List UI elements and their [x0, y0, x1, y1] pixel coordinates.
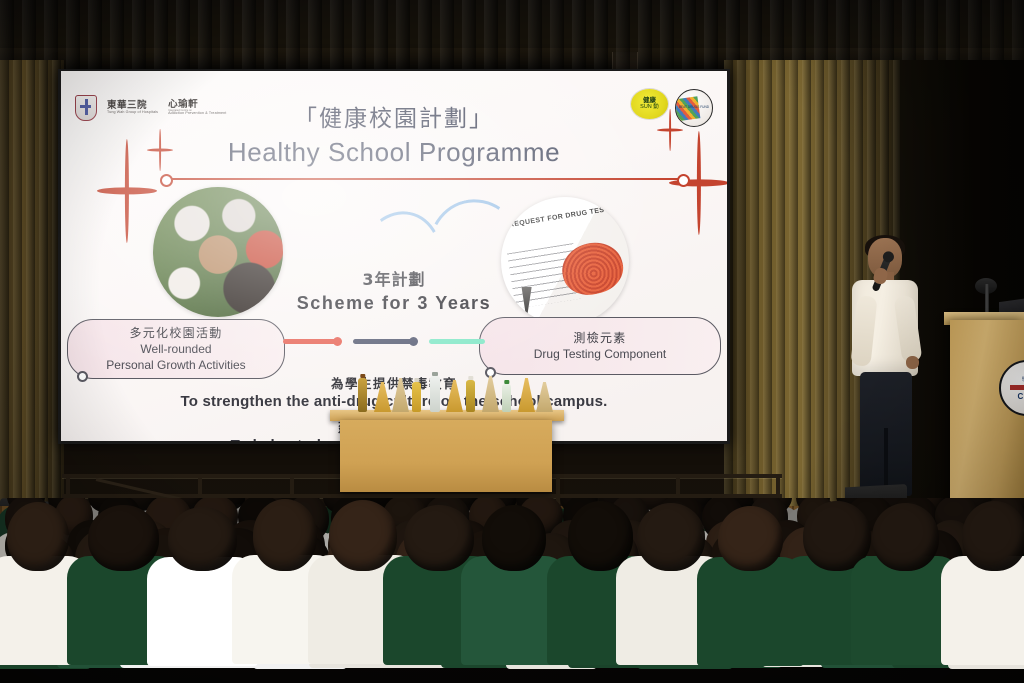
audience-member-head	[482, 505, 546, 571]
bullet-2-english-post: .	[553, 437, 557, 441]
valance-pleat	[528, 0, 542, 78]
valance-pleat	[242, 0, 256, 78]
connector-dot-2	[409, 337, 418, 346]
connector-dot-1	[333, 337, 342, 346]
school-emblem-bar	[1010, 385, 1024, 390]
valance-pleat	[308, 0, 322, 78]
valance-pleat	[176, 0, 190, 78]
scheme-duration-chinese: 3年計劃	[61, 266, 727, 290]
valance-pleat	[506, 0, 520, 78]
curtain-fold	[828, 60, 837, 530]
callout-left-en-2: Personal Growth Activities	[106, 357, 245, 373]
curtain-fold	[13, 60, 22, 530]
beat-drugs-fund-label: BEAT DRUGS FUND	[679, 106, 709, 110]
callout-right-en-1: Drug Testing Component	[534, 346, 667, 362]
valance-pleat	[704, 0, 718, 78]
bottle-3	[430, 376, 440, 412]
scheme-duration-english: Scheme for 3 Years	[61, 293, 727, 314]
bottle-2	[412, 382, 421, 412]
presenter	[848, 238, 928, 510]
exhibit-items	[330, 370, 564, 412]
valance-pleat	[198, 0, 212, 78]
valance-pleat	[110, 0, 124, 78]
easel-2	[392, 378, 409, 412]
lectern	[950, 320, 1024, 520]
well-rounded-activities-callout: 多元化校園活動 Well-rounded Personal Growth Act…	[67, 319, 285, 379]
connector-segment-2	[353, 339, 415, 344]
audience-member-head	[718, 506, 783, 571]
valance-pleat	[616, 0, 630, 78]
curtain-fold	[815, 60, 824, 530]
curtain-fold	[737, 60, 746, 530]
valance-pleat	[88, 0, 102, 78]
curtain-fold	[39, 60, 48, 530]
exhibit-table	[340, 420, 552, 492]
easel-5	[518, 378, 535, 412]
valance-pleat	[396, 0, 410, 78]
connector-segment-1	[283, 339, 339, 344]
slide-title-chinese: 「健康校園計劃」	[61, 99, 727, 133]
valance-pleat	[66, 0, 80, 78]
valance-pleat	[484, 0, 498, 78]
student-audience	[0, 498, 1024, 683]
valance-pleat	[594, 0, 608, 78]
valance-pleat	[550, 0, 564, 78]
audience-member-head	[637, 503, 705, 571]
easel-3	[446, 380, 463, 412]
bottle-5	[502, 384, 511, 412]
audience-member	[941, 501, 1024, 683]
valance-pleat	[286, 0, 300, 78]
drug-testing-component-callout: 測檢元素 Drug Testing Component	[479, 317, 721, 375]
callout-right-cn: 測檢元素	[573, 330, 626, 346]
valance-pleat	[462, 0, 476, 78]
curtain-fold	[26, 60, 35, 530]
audience-member-uniform	[941, 556, 1024, 665]
valance-pleat	[418, 0, 432, 78]
curtain-fold	[789, 60, 798, 530]
valance-pleat	[220, 0, 234, 78]
callout-left-cn: 多元化校園活動	[129, 325, 222, 341]
rule-end-dot-left	[160, 174, 173, 187]
valance-pleat	[638, 0, 652, 78]
curtain-fold	[802, 60, 811, 530]
valance-pleat	[572, 0, 586, 78]
audience-member-head	[7, 502, 69, 571]
easel-1	[374, 382, 391, 412]
callout-left-en-1: Well-rounded	[140, 341, 211, 357]
curtain-fold	[763, 60, 772, 530]
easel-6	[536, 382, 553, 412]
audience-member-head	[168, 507, 237, 571]
curtain-fold	[0, 60, 9, 530]
connector-segment-3	[429, 339, 485, 344]
slide-title-english: Healthy School Programme	[61, 137, 727, 168]
valance-pleat	[154, 0, 168, 78]
valance-pleat	[440, 0, 454, 78]
valance-pleat	[352, 0, 366, 78]
curtain-fold	[750, 60, 759, 530]
valance-pleat	[374, 0, 388, 78]
audience-member-head	[872, 503, 939, 571]
audience-member-head	[962, 501, 1024, 571]
valance-pleat	[330, 0, 344, 78]
stage-curtain-left	[0, 60, 64, 530]
bottle-1	[358, 378, 367, 412]
valance-pleat	[682, 0, 696, 78]
curtain-fold	[776, 60, 785, 530]
title-underline-rule	[165, 178, 681, 180]
valance-pleat	[264, 0, 278, 78]
rule-end-dot-right	[677, 174, 690, 187]
valance-pleat	[132, 0, 146, 78]
bottle-4	[466, 380, 475, 412]
presenter-free-hand	[906, 356, 919, 369]
screenshot-root: 東華三院 Tung Wah Group of Hospitals 心瑜軒 Int…	[0, 0, 1024, 683]
valance-pleat	[660, 0, 674, 78]
school-emblem-text: CMS	[1018, 392, 1024, 401]
easel-4	[482, 376, 499, 412]
